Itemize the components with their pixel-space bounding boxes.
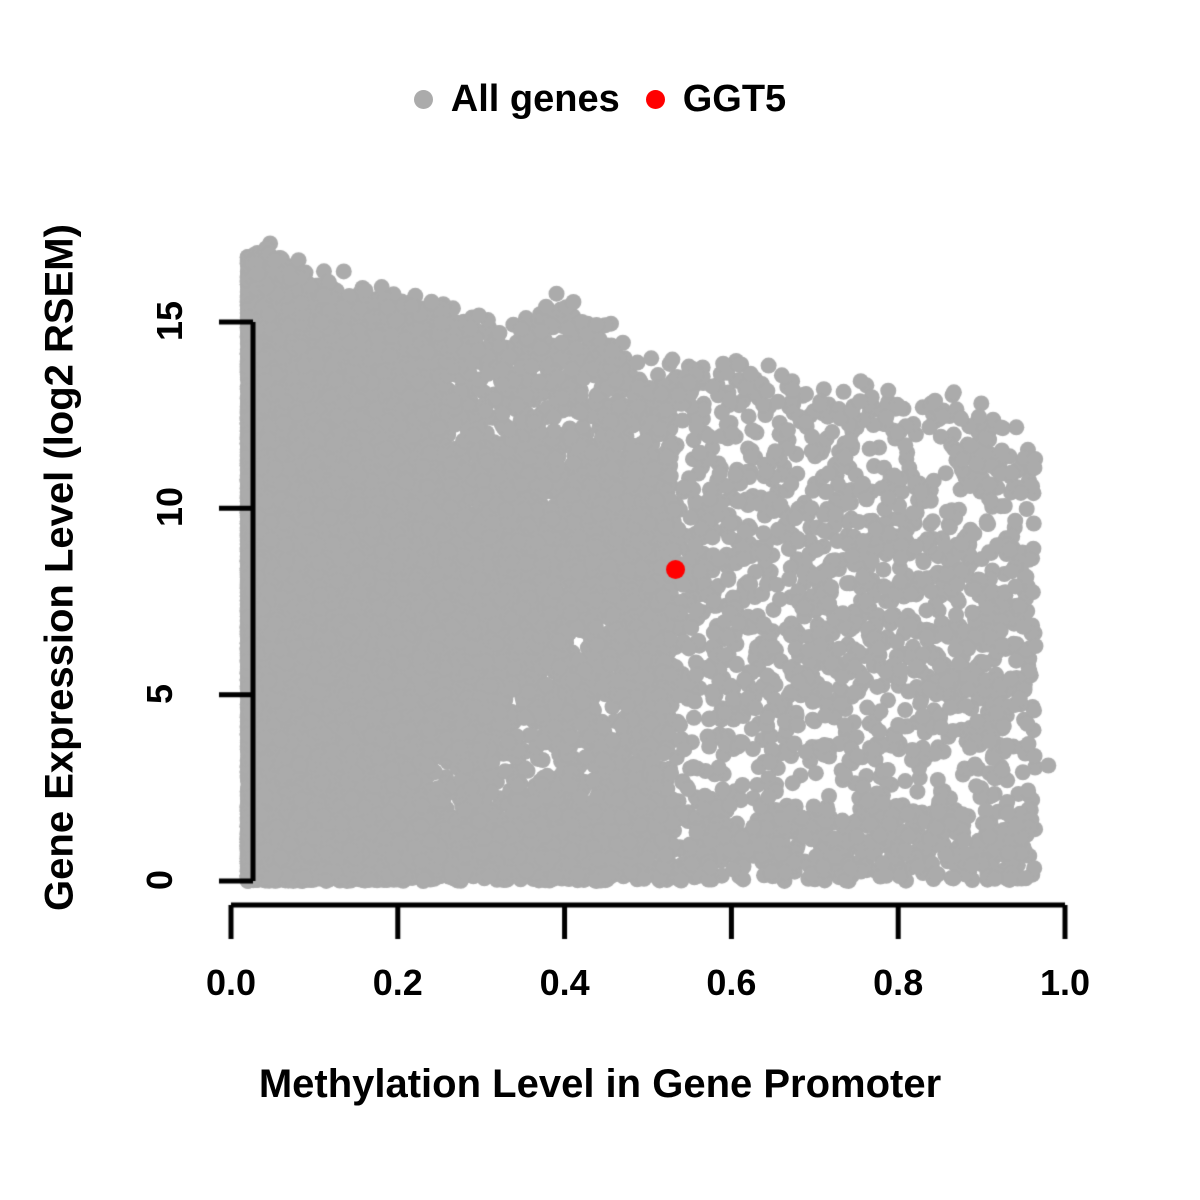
scatter-plot-canvas [0, 0, 1200, 1200]
scatter-plot-figure: All genes GGT5 0.00.20.40.60.81.0 051015… [0, 0, 1200, 1200]
